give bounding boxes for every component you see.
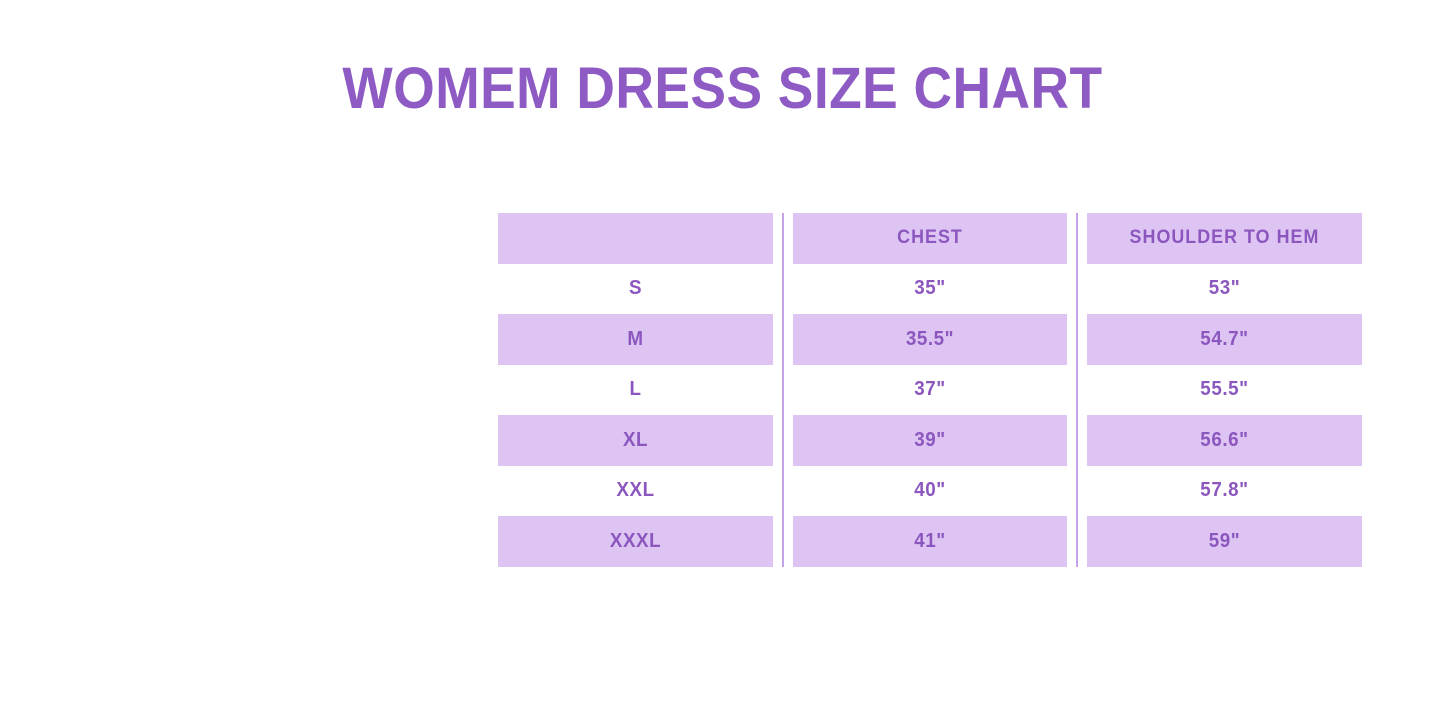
cell-shoulder-to-hem: 59"	[1086, 516, 1362, 567]
table-row: L 37" 55.5"	[489, 365, 1371, 416]
cell-chest: 35.5"	[792, 314, 1068, 365]
cell-chest: 39"	[792, 415, 1068, 466]
table-body: S 35" 53" M 35.5" 54.7" L 37" 55.5" XL 3…	[489, 264, 1371, 567]
column-header-size	[498, 213, 774, 264]
cell-shoulder-to-hem: 54.7"	[1086, 314, 1362, 365]
column-header-shoulder-to-hem: SHOULDER TO HEM	[1086, 213, 1362, 264]
table-header-row: CHEST SHOULDER TO HEM	[489, 213, 1371, 264]
page-title: WOMEM DRESS SIZE CHART	[58, 57, 1387, 121]
table-row: XXXL 41" 59"	[489, 516, 1371, 567]
size-chart-table-container: CHEST SHOULDER TO HEM S 35" 53" M 35.5" …	[489, 213, 1371, 566]
cell-shoulder-to-hem: 56.6"	[1086, 415, 1362, 466]
size-chart-page: WOMEM DRESS SIZE CHART CHEST SHOULDER TO…	[0, 0, 1445, 723]
cell-chest: 41"	[792, 516, 1068, 567]
table-header: CHEST SHOULDER TO HEM	[489, 213, 1371, 264]
cell-size: XXXL	[498, 516, 774, 567]
size-chart-table: CHEST SHOULDER TO HEM S 35" 53" M 35.5" …	[489, 213, 1371, 567]
cell-chest: 35"	[792, 264, 1068, 315]
cell-size: L	[498, 365, 774, 416]
table-row: M 35.5" 54.7"	[489, 314, 1371, 365]
cell-chest: 40"	[792, 466, 1068, 517]
table-row: XXL 40" 57.8"	[489, 466, 1371, 517]
cell-shoulder-to-hem: 53"	[1086, 264, 1362, 315]
table-row: S 35" 53"	[489, 264, 1371, 315]
column-header-chest: CHEST	[792, 213, 1068, 264]
table-row: XL 39" 56.6"	[489, 415, 1371, 466]
cell-shoulder-to-hem: 55.5"	[1086, 365, 1362, 416]
cell-size: XXL	[498, 466, 774, 517]
cell-size: S	[498, 264, 774, 315]
cell-size: XL	[498, 415, 774, 466]
cell-size: M	[498, 314, 774, 365]
cell-chest: 37"	[792, 365, 1068, 416]
cell-shoulder-to-hem: 57.8"	[1086, 466, 1362, 517]
